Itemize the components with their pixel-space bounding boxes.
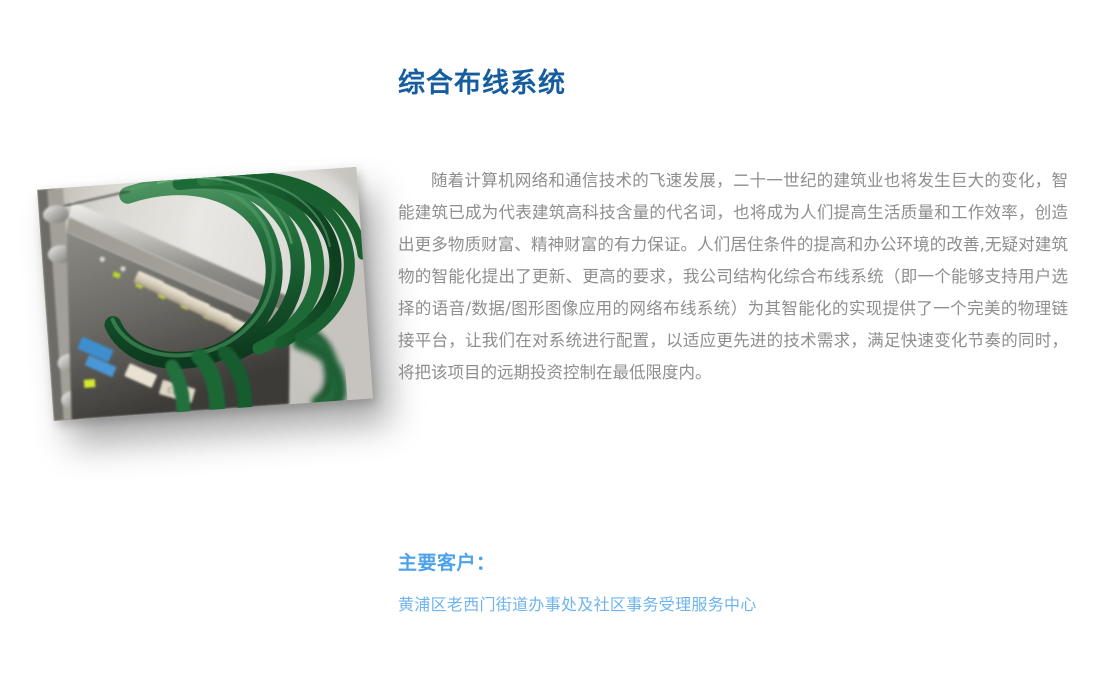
main-customers-section: 主要客户： 黄浦区老西门街道办事处及社区事务受理服务中心 [398, 548, 1068, 620]
photo-image: C9/C [37, 167, 373, 421]
main-customers-label: 主要客户： [398, 548, 1068, 578]
network-cabling-photo: C9/C [37, 167, 373, 421]
main-customers-value: 黄浦区老西门街道办事处及社区事务受理服务中心 [398, 590, 1068, 620]
description-paragraph: 随着计算机网络和通信技术的飞速发展，二十一世纪的建筑业也将发生巨大的变化，智能建… [398, 165, 1068, 389]
product-detail-page: C9/C [0, 0, 1100, 700]
content-column: 综合布线系统 随着计算机网络和通信技术的飞速发展，二十一世纪的建筑业也将发生巨大… [398, 0, 1070, 700]
photo-area: C9/C [0, 120, 390, 550]
page-title: 综合布线系统 [398, 68, 566, 100]
